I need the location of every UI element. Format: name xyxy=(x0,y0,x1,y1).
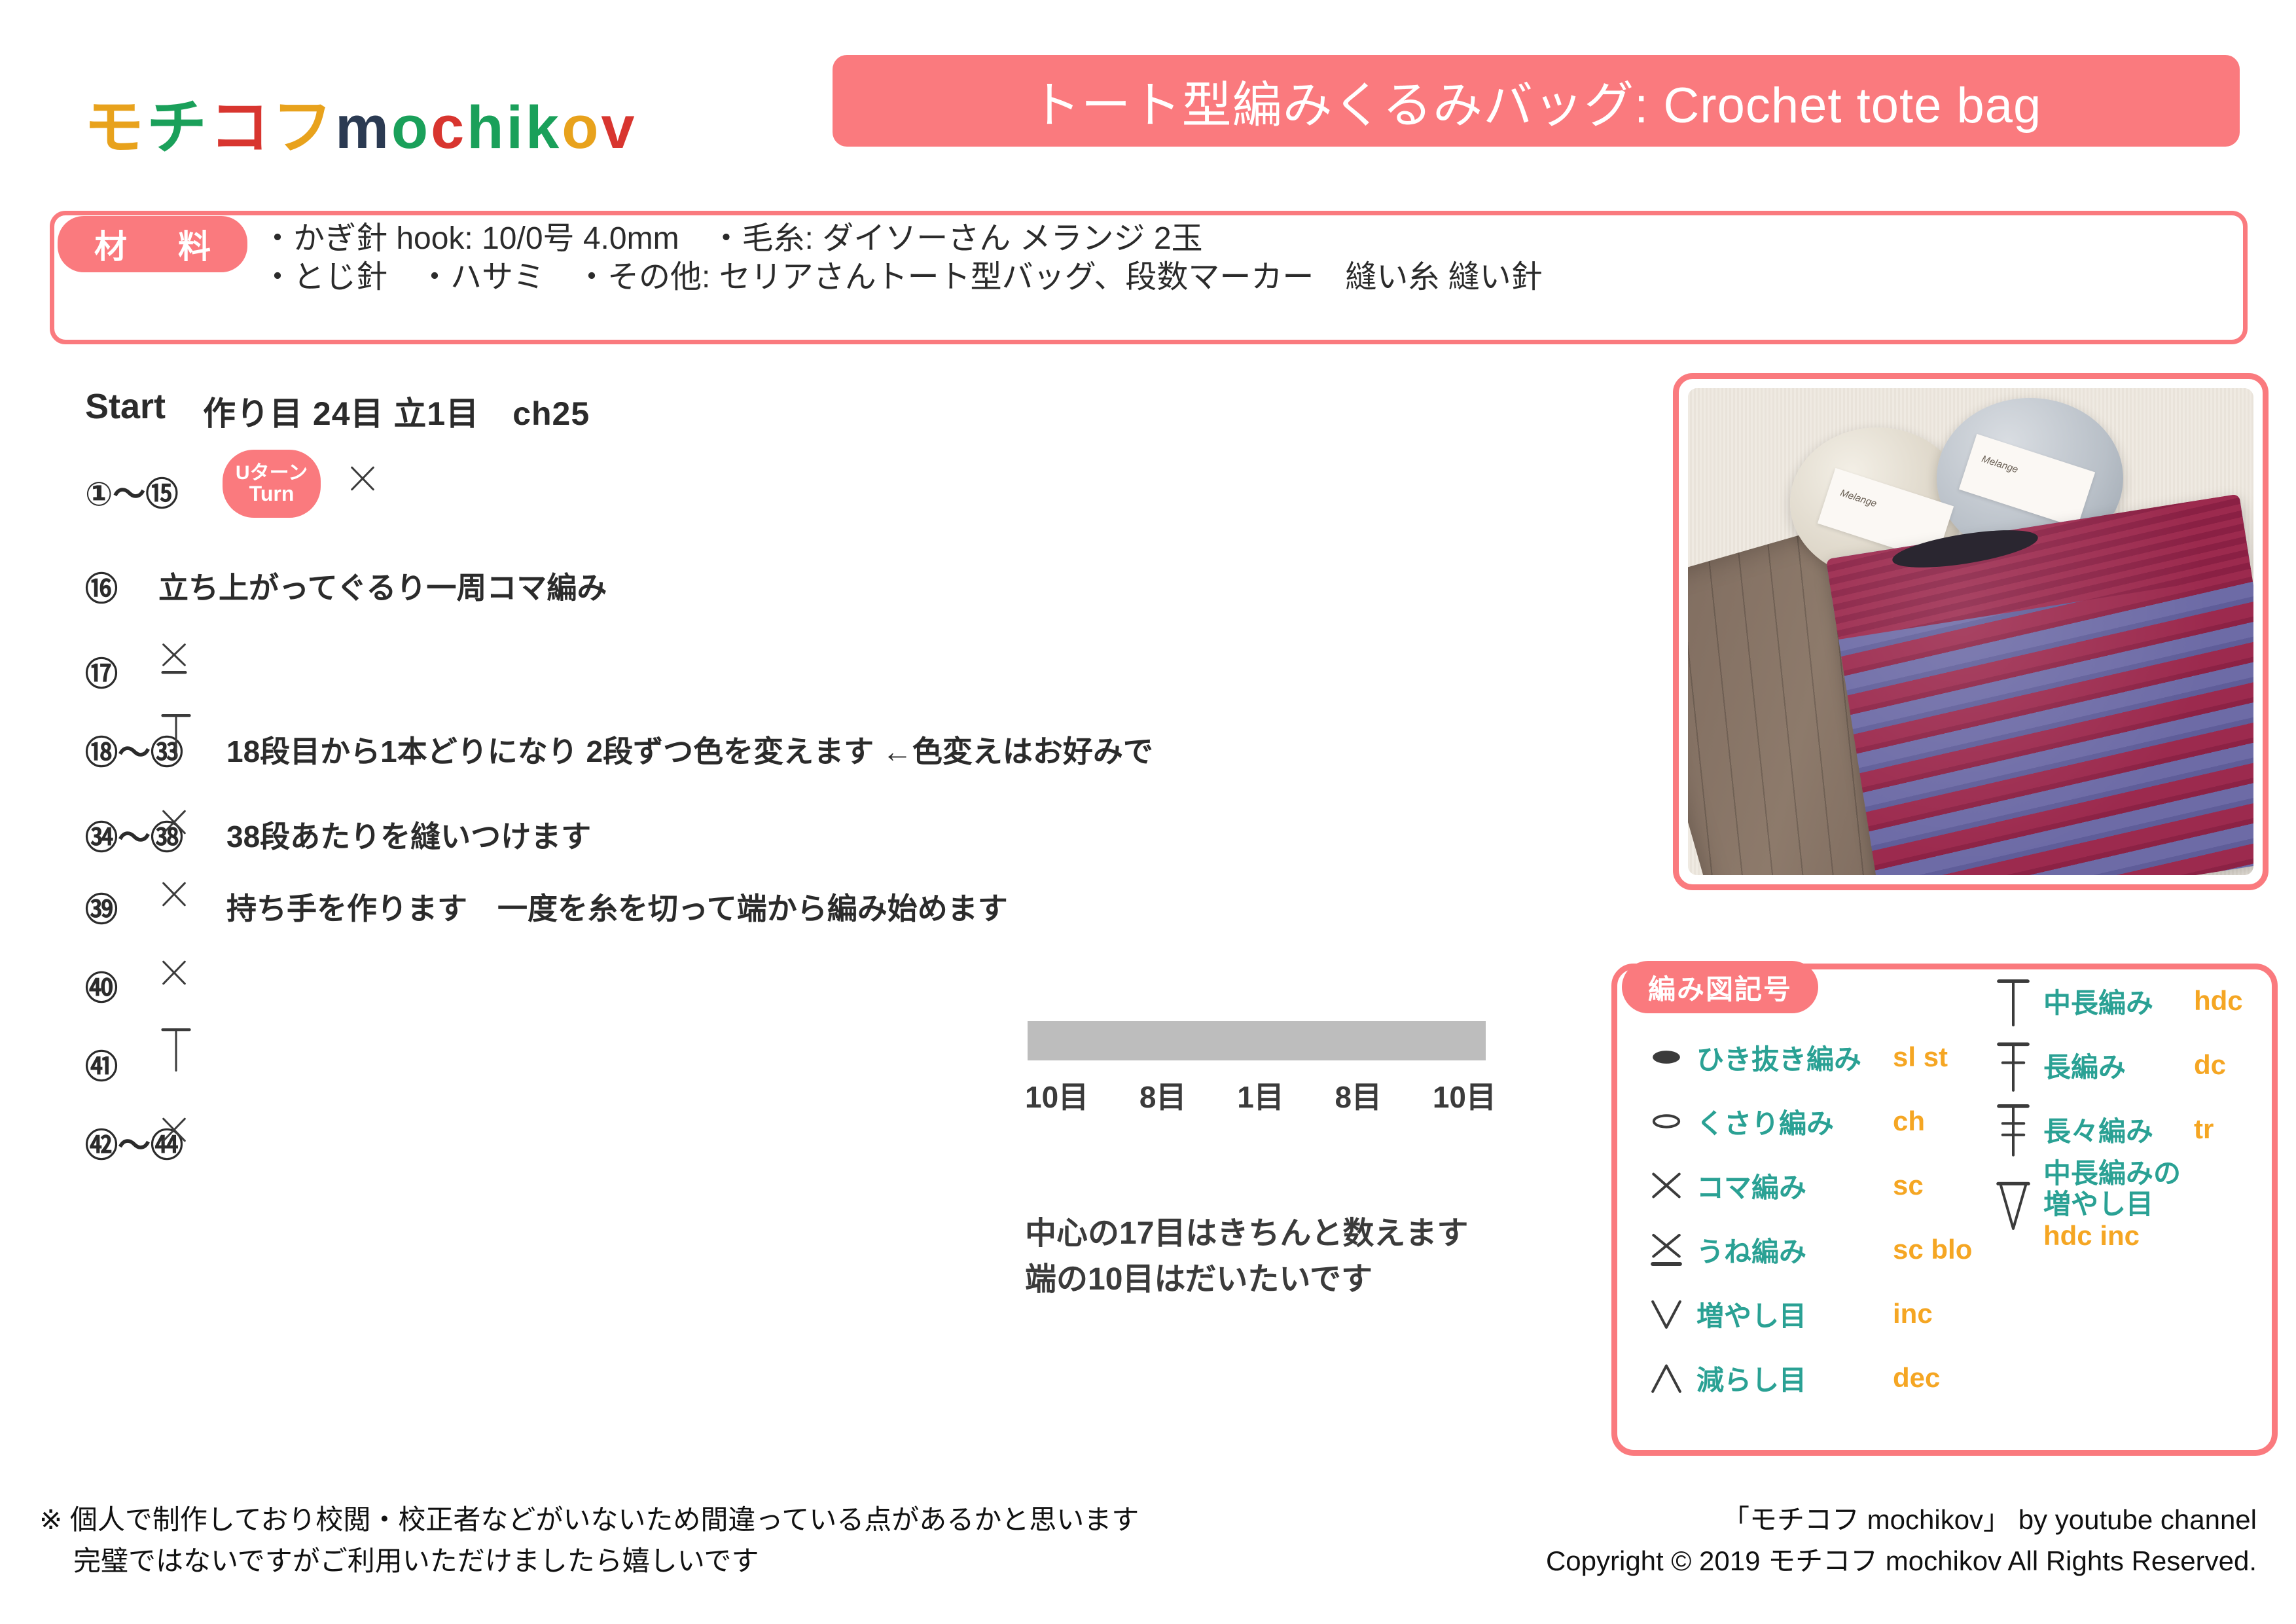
symbol-legend-badge: 編み図記号 xyxy=(1622,961,1818,1013)
legend-label-ja: コマ編み xyxy=(1696,1166,1893,1206)
legend-label-ja: くさり編み xyxy=(1696,1102,1893,1142)
handle-note: 中心の17目はきちんと数えます xyxy=(1025,1211,1468,1257)
page-title-bar: トート型編みくるみバッグ: Crochet tote bag xyxy=(833,55,2240,147)
stitch-count: 10目 xyxy=(1025,1074,1088,1117)
legend-symbol-hdc-icon xyxy=(1983,972,2043,1030)
start-text: 作り目 24目 立1目 ch25 xyxy=(203,388,590,435)
handle-notes: 中心の17目はきちんと数えます端の10目はだいたいです xyxy=(1025,1211,1468,1302)
u-turn-label-en: Turn xyxy=(249,483,295,504)
row-number-label: ⑰ xyxy=(85,648,118,695)
legend-symbol-tr-icon xyxy=(1983,1100,2043,1158)
legend-symbol-sc-blo-icon xyxy=(1636,1231,1696,1269)
row-number-label: ㊴ xyxy=(85,884,118,931)
page-title: トート型編みくるみバッグ: Crochet tote bag xyxy=(1031,65,2042,137)
legend-label-en: sc xyxy=(1893,1170,1924,1201)
legend-item-ch: くさり編みch xyxy=(1636,1089,1990,1153)
u-turn-badge: UターンTurn xyxy=(223,450,321,518)
legend-item-dec: 減らし目dec xyxy=(1636,1346,1990,1410)
legend-item-hdc-inc: 中長編みの増やし目hdc inc xyxy=(1983,1161,2258,1248)
legend-label-en: dc xyxy=(2194,1049,2226,1081)
legend-label-en: sl st xyxy=(1893,1041,1948,1073)
legend-item-dc: 長編みdc xyxy=(1983,1033,2258,1097)
copyright-line: Copyright © 2019 モチコフ mochikov All Right… xyxy=(1546,1540,2257,1581)
row-number-label: ⑯ xyxy=(85,563,118,610)
stitch-symbol-hdc xyxy=(158,707,194,761)
legend-column-left: ひき抜き編みsl stくさり編みchコマ編みscうね編みsc blo増やし目in… xyxy=(1636,1025,1990,1410)
stitch-symbol-hdc xyxy=(158,1021,194,1075)
disclaimer-line-2: 完璧ではないですがご利用いただけましたら嬉しいです xyxy=(39,1540,1139,1581)
logo-letter: モ xyxy=(84,79,147,166)
row-instruction-text: 持ち手を作ります 一度を糸を切って端から編み始めます xyxy=(226,885,1008,928)
stitch-symbol-sc xyxy=(158,804,190,840)
materials-list: ・かぎ針 hook: 10/0号 4.0mm ・毛糸: ダイソーさん メランジ … xyxy=(262,220,2199,297)
stitch-count: 1目 xyxy=(1237,1074,1284,1117)
photo-crochet-bag xyxy=(1825,494,2253,875)
handle-stitch-counts: 10目8目1目8目10目 xyxy=(1025,1074,1496,1117)
legend-label-en: tr xyxy=(2194,1113,2214,1145)
legend-symbol-ch-icon xyxy=(1636,1102,1696,1140)
legend-symbol-dec-icon xyxy=(1636,1359,1696,1397)
legend-column-right: 中長編みhdc長編みdc長々編みtr中長編みの増やし目hdc inc xyxy=(1983,969,2258,1248)
legend-label-en: hdc inc xyxy=(2043,1220,2181,1251)
disclaimer: ※ 個人で制作しており校閲・校正者などがいないため間違っている点があるかと思いま… xyxy=(39,1499,1139,1581)
logo-letter: m xyxy=(335,94,391,162)
legend-item-sc: コマ編みsc xyxy=(1636,1153,1990,1218)
legend-symbol-inc-icon xyxy=(1636,1295,1696,1333)
logo-letter: i xyxy=(506,94,526,162)
brand-logo: モチコフ mochikov xyxy=(84,79,637,166)
u-turn-label-ja: Uターン xyxy=(236,463,308,483)
legend-label-en: inc xyxy=(1893,1298,1933,1329)
legend-label-ja: 長々編み xyxy=(2043,1110,2194,1149)
row-number-label: ㊶ xyxy=(85,1041,118,1088)
legend-symbol-sl-st-icon xyxy=(1636,1038,1696,1076)
handle-bar xyxy=(1028,1021,1486,1060)
stitch-symbol-sc xyxy=(158,1111,190,1148)
logo-letter: v xyxy=(601,94,637,162)
stitch-count: 8目 xyxy=(1335,1074,1382,1117)
project-photo: Melange Melange xyxy=(1688,388,2253,875)
logo-letter: コ xyxy=(209,79,272,166)
legend-label-ja: 長編み xyxy=(2043,1045,2194,1085)
logo-letter: チ xyxy=(147,79,209,166)
stitch-count: 10目 xyxy=(1433,1074,1496,1117)
legend-label-en: hdc xyxy=(2194,985,2243,1017)
legend-label-en: dec xyxy=(1893,1362,1940,1394)
legend-item-sl-st: ひき抜き編みsl st xyxy=(1636,1025,1990,1089)
legend-label-ja: 中長編みの xyxy=(2043,1158,2181,1189)
legend-symbol-sc-icon xyxy=(1636,1166,1696,1204)
yarn-brand-text-2: Melange xyxy=(1981,453,2020,475)
legend-item-inc: 増やし目inc xyxy=(1636,1282,1990,1346)
legend-item-hdc: 中長編みhdc xyxy=(1983,969,2258,1033)
legend-label-ja: 増やし目 xyxy=(1696,1294,1893,1334)
materials-line-1: ・かぎ針 hook: 10/0号 4.0mm ・毛糸: ダイソーさん メランジ … xyxy=(262,220,2199,259)
stitch-symbol-sc-blo xyxy=(158,640,190,677)
legend-symbol-dc-icon xyxy=(1983,1036,2043,1094)
logo-letter: k xyxy=(526,94,562,162)
channel-credit: 「モチコフ mochikov」 by youtube channel xyxy=(1546,1499,2257,1540)
legend-label-en: ch xyxy=(1893,1106,1925,1137)
logo-letter: o xyxy=(391,94,431,162)
disclaimer-line-1: ※ 個人で制作しており校閲・校正者などがいないため間違っている点があるかと思いま… xyxy=(39,1499,1139,1540)
stitch-symbol-sc xyxy=(158,876,190,912)
logo-letter: o xyxy=(562,94,601,162)
logo-letter: h xyxy=(467,94,506,162)
legend-symbol-hdc-inc-icon xyxy=(1983,1176,2043,1233)
materials-line-2: ・とじ針 ・ハサミ ・その他: セリアさんトート型バッグ、段数マーカー 縫い糸 … xyxy=(262,259,2199,297)
handle-note: 端の10目はだいたいです xyxy=(1025,1257,1468,1303)
copyright: 「モチコフ mochikov」 by youtube channel Copyr… xyxy=(1546,1499,2257,1581)
legend-item-sc-blo: うね編みsc blo xyxy=(1636,1218,1990,1282)
pattern-page: モチコフ mochikov トート型編みくるみバッグ: Crochet tote… xyxy=(0,0,2296,1624)
row-instruction-text: 立ち上がってぐるり一周コマ編み xyxy=(158,564,607,607)
stitch-symbol-sc xyxy=(347,460,378,497)
materials-badge: 材 料 xyxy=(58,216,247,272)
row-instruction-text: 18段目から1本どりになり 2段ずつ色を変えます ←色変えはお好みで xyxy=(226,728,1153,771)
logo-letter: フ xyxy=(272,79,335,166)
row-number-label: ①〜⑮ xyxy=(85,468,178,515)
legend-label-ja: ひき抜き編み xyxy=(1696,1038,1893,1077)
start-label: Start xyxy=(85,386,166,427)
legend-item-tr: 長々編みtr xyxy=(1983,1097,2258,1161)
stitch-count: 8目 xyxy=(1139,1074,1187,1117)
legend-label-ja: 中長編み xyxy=(2043,981,2194,1021)
legend-label-ja: うね編み xyxy=(1696,1230,1893,1270)
legend-label-ja: 減らし目 xyxy=(1696,1358,1893,1398)
legend-label-en: sc blo xyxy=(1893,1234,1972,1265)
logo-letter: c xyxy=(431,94,467,162)
row-instruction-text: 38段あたりを縫いつけます xyxy=(226,813,591,856)
project-photo-frame: Melange Melange xyxy=(1673,373,2269,890)
legend-label-ja: 増やし目 xyxy=(2043,1189,2181,1219)
yarn-brand-text-1: Melange xyxy=(1839,487,1878,509)
stitch-symbol-sc xyxy=(158,954,190,991)
row-number-label: ㊵ xyxy=(85,962,118,1009)
